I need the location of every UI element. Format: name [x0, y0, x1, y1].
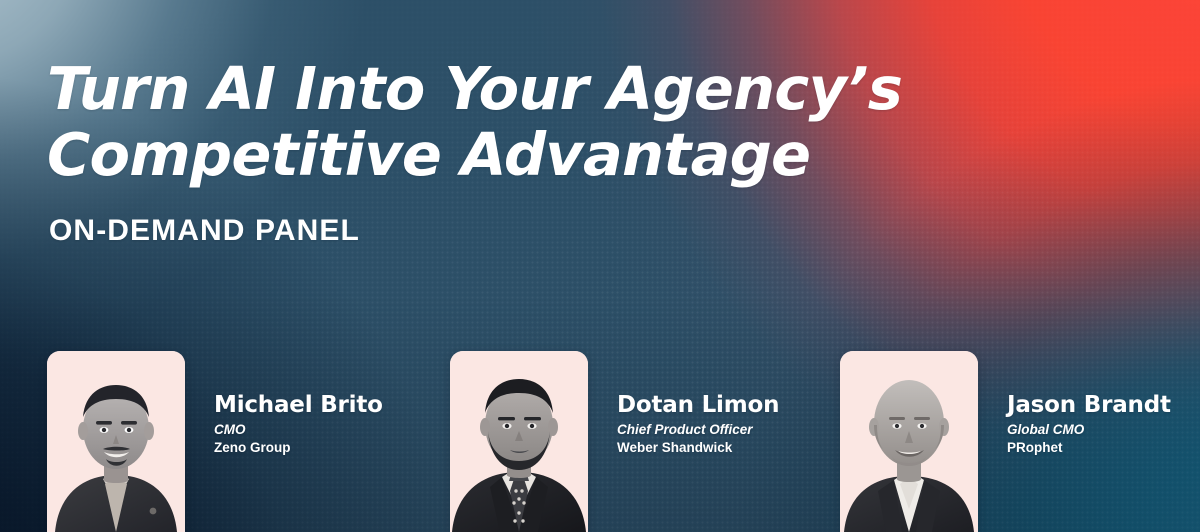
speaker-card: Michael Brito CMO Zeno Group: [47, 351, 383, 532]
speaker-info: Jason Brandt Global CMO PRophet: [978, 351, 1171, 456]
speaker-organization: Zeno Group: [214, 439, 383, 456]
speaker-role: Global CMO: [1007, 421, 1171, 438]
page-title: Turn AI Into Your Agency’s Competitive A…: [47, 56, 1107, 188]
event-type-label: ON-DEMAND PANEL: [49, 212, 360, 250]
promo-banner: Turn AI Into Your Agency’s Competitive A…: [0, 0, 1200, 532]
speaker-card: Jason Brandt Global CMO PRophet: [840, 351, 1171, 532]
speaker-organization: Weber Shandwick: [617, 439, 779, 456]
speaker-organization: PRophet: [1007, 439, 1171, 456]
avatar: [47, 351, 185, 532]
speaker-role: CMO: [214, 421, 383, 438]
speaker-role: Chief Product Officer: [617, 421, 779, 438]
speaker-name: Dotan Limon: [617, 392, 779, 418]
headline-line-2: Competitive Advantage: [47, 122, 1107, 188]
speaker-card: Dotan Limon Chief Product Officer Weber …: [450, 351, 779, 532]
speaker-info: Dotan Limon Chief Product Officer Weber …: [588, 351, 779, 456]
avatar: [450, 351, 588, 532]
speaker-info: Michael Brito CMO Zeno Group: [185, 351, 383, 456]
speaker-name: Jason Brandt: [1007, 392, 1171, 418]
avatar: [840, 351, 978, 532]
speaker-name: Michael Brito: [214, 392, 383, 418]
speaker-list: Michael Brito CMO Zeno Group: [0, 351, 1200, 532]
headline-line-1: Turn AI Into Your Agency’s: [47, 56, 1107, 122]
